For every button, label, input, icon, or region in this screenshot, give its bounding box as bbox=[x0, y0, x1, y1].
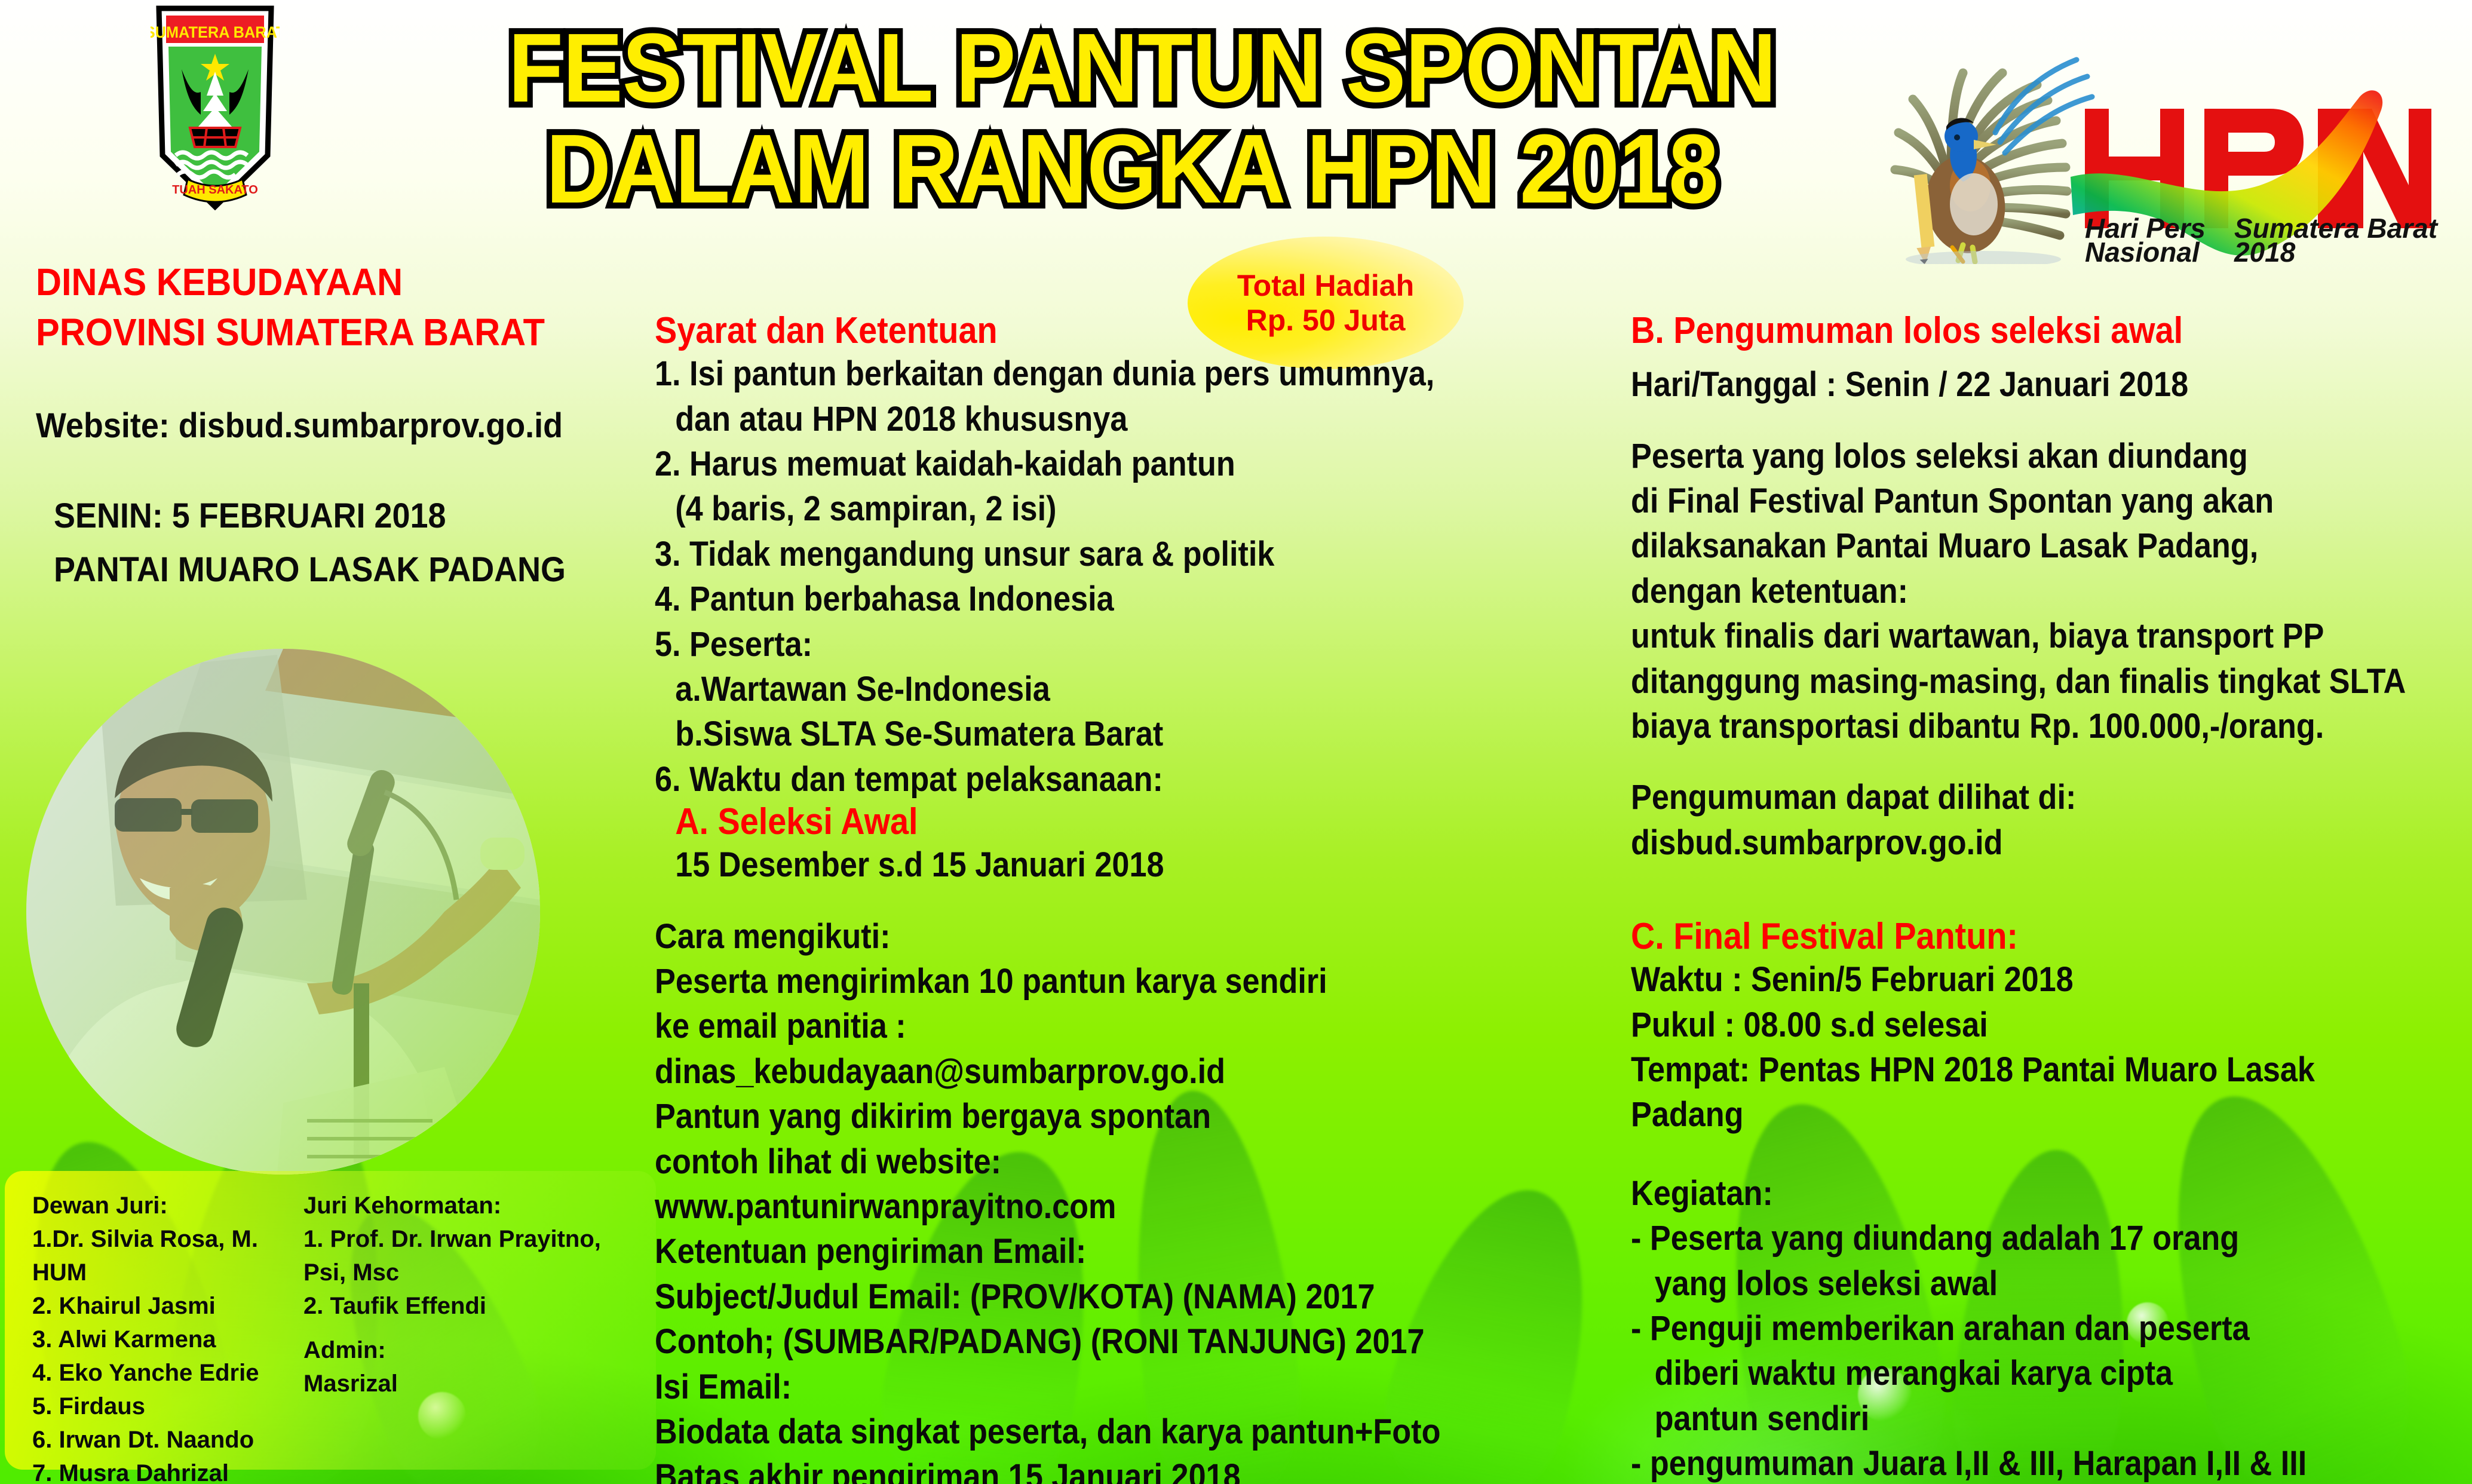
howto-line: Peserta mengirimkan 10 pantun karya send… bbox=[655, 959, 1493, 1004]
list-item: 3. Alwi Karmena bbox=[32, 1323, 319, 1356]
page-title: FESTIVAL PANTUN SPONTAN DALAM RANGKA HPN… bbox=[454, 18, 1810, 220]
announce-body-line: dengan ketentuan: bbox=[1631, 569, 2394, 614]
terms-item: 1. Isi pantun berkaitan dengan dunia per… bbox=[655, 351, 1493, 396]
admin-name: Masrizal bbox=[303, 1367, 398, 1400]
terms-item: 3. Tidak mengandung unsur sara & politik bbox=[655, 532, 1493, 577]
activity-heading: Kegiatan: bbox=[1631, 1171, 2394, 1216]
website-line[interactable]: Website: disbud.sumbarprov.go.id bbox=[36, 406, 569, 446]
final-tempat-line-2: Padang bbox=[1631, 1092, 2394, 1137]
final-heading: C. Final Festival Pantun: bbox=[1631, 916, 2394, 957]
svg-text:TUAH SAKATO: TUAH SAKATO bbox=[172, 183, 258, 197]
terms-heading: Syarat dan Ketentuan bbox=[655, 311, 1493, 351]
announce-body-line: dilaksanakan Pantai Muaro Lasak Padang, bbox=[1631, 523, 2394, 568]
activity-line: - pengumuman Juara I,II & III, Harapan I… bbox=[1631, 1441, 2394, 1484]
jury-honorary-column: Juri Kehormatan: 1. Prof. Dr. Irwan Pray… bbox=[303, 1189, 638, 1323]
howto-line: Pantun yang dikirim bergaya spontan bbox=[655, 1094, 1493, 1139]
admin-title: Admin: bbox=[303, 1333, 398, 1367]
list-item: 2. Taufik Effendi bbox=[303, 1289, 638, 1323]
terms-item: 5. Peserta: bbox=[655, 622, 1493, 667]
spacer bbox=[1631, 1137, 2472, 1171]
terms-column: Syarat dan Ketentuan 1. Isi pantun berka… bbox=[655, 311, 1587, 1484]
announce-where-label: Pengumuman dapat dilihat di: bbox=[1631, 775, 2394, 820]
howto-line: Batas akhir pengiriman 15 Januari 2018 bbox=[655, 1454, 1493, 1484]
howto-line: contoh lihat di website: bbox=[655, 1139, 1493, 1184]
activity-line: - Penguji memberikan arahan dan peserta bbox=[1631, 1306, 2394, 1351]
spacer bbox=[655, 888, 1587, 914]
activity-line: pantun sendiri bbox=[1631, 1396, 2394, 1441]
howto-line: Isi Email: bbox=[655, 1365, 1493, 1409]
list-item: 4. Eko Yanche Edrie bbox=[32, 1356, 319, 1390]
dept-line-2: PROVINSI SUMATERA BARAT bbox=[36, 307, 569, 357]
announcement-column: B. Pengumuman lolos seleksi awal Hari/Ta… bbox=[1631, 311, 2472, 1484]
list-item: 1.Dr. Silvia Rosa, M. HUM bbox=[32, 1222, 319, 1289]
title-line-1: FESTIVAL PANTUN SPONTAN bbox=[508, 18, 1756, 119]
announce-body-line: Peserta yang lolos seleksi akan diundang bbox=[1631, 434, 2394, 479]
section-a-heading: A. Seleksi Awal bbox=[655, 802, 1493, 842]
spacer bbox=[1631, 351, 2472, 362]
terms-item: 6. Waktu dan tempat pelaksanaan: bbox=[655, 757, 1493, 802]
announce-body-line: untuk finalis dari wartawan, biaya trans… bbox=[1631, 614, 2394, 658]
speaker-photo bbox=[26, 649, 540, 1175]
announce-where-url[interactable]: disbud.sumbarprov.go.id bbox=[1631, 820, 2394, 865]
event-place: PANTAI MUARO LASAK PADANG bbox=[54, 545, 571, 595]
howto-line: Subject/Judul Email: (PROV/KOTA) (NAMA) … bbox=[655, 1274, 1493, 1319]
sumatera-barat-crest-logo: SUMATERA BARAT TUAH SAKATO bbox=[151, 5, 280, 210]
announce-heading: B. Pengumuman lolos seleksi awal bbox=[1631, 311, 2394, 351]
final-waktu: Waktu : Senin/5 Februari 2018 bbox=[1631, 957, 2394, 1002]
prize-label: Total Hadiah bbox=[1237, 268, 1414, 303]
terms-item: b.Siswa SLTA Se-Sumatera Barat bbox=[655, 712, 1493, 756]
dept-line-1: DINAS KEBUDAYAAN bbox=[36, 257, 569, 307]
section-a-dates: 15 Desember s.d 15 Januari 2018 bbox=[655, 842, 1493, 887]
terms-item: 2. Harus memuat kaidah-kaidah pantun bbox=[655, 441, 1493, 486]
hpn-caption-line4: 2018 bbox=[2234, 237, 2296, 264]
howto-line: Ketentuan pengiriman Email: bbox=[655, 1229, 1493, 1274]
jury-council-title: Dewan Juri: bbox=[32, 1189, 319, 1222]
announce-date: Hari/Tanggal : Senin / 22 Januari 2018 bbox=[1631, 362, 2394, 407]
final-tempat-line-1: Tempat: Pentas HPN 2018 Pantai Muaro Las… bbox=[1631, 1047, 2394, 1092]
left-column: DINAS KEBUDAYAAN PROVINSI SUMATERA BARAT… bbox=[36, 257, 609, 595]
howto-line: Contoh; (SUMBAR/PADANG) (RONI TANJUNG) 2… bbox=[655, 1319, 1493, 1364]
activity-line: diberi waktu merangkai karya cipta bbox=[1631, 1351, 2394, 1396]
jury-panel: Dewan Juri: 1.Dr. Silvia Rosa, M. HUM 2.… bbox=[5, 1171, 656, 1470]
spacer bbox=[1631, 407, 2472, 434]
announce-body-line: biaya transportasi dibantu Rp. 100.000,-… bbox=[1631, 704, 2394, 749]
activity-line: - Peserta yang diundang adalah 17 orang bbox=[1631, 1216, 2394, 1261]
title-line-2: DALAM RANGKA HPN 2018 bbox=[508, 119, 1756, 220]
terms-item: 4. Pantun berbahasa Indonesia bbox=[655, 577, 1493, 621]
jury-honorary-title: Juri Kehormatan: bbox=[303, 1189, 638, 1222]
howto-heading: Cara mengikuti: bbox=[655, 914, 1493, 959]
jury-council-column: Dewan Juri: 1.Dr. Silvia Rosa, M. HUM 2.… bbox=[32, 1189, 319, 1484]
howto-line: Biodata data singkat peserta, dan karya … bbox=[655, 1409, 1493, 1454]
list-item: 6. Irwan Dt. Naando bbox=[32, 1423, 319, 1457]
terms-item: (4 baris, 2 sampiran, 2 isi) bbox=[655, 486, 1493, 531]
example-website-url[interactable]: www.pantunirwanprayitno.com bbox=[655, 1184, 1493, 1229]
panitia-email[interactable]: dinas_kebudayaan@sumbarprov.go.id bbox=[655, 1049, 1493, 1094]
hpn-caption-line2: Nasional bbox=[2085, 237, 2200, 264]
hpn-logo: Hari Pers Nasional Sumatera Barat 2018 bbox=[1846, 25, 2449, 264]
terms-item: dan atau HPN 2018 khususnya bbox=[655, 397, 1493, 441]
activity-line: yang lolos seleksi awal bbox=[1631, 1261, 2394, 1306]
poster-canvas: SUMATERA BARAT TUAH SAKATO FESTIVAL PANT… bbox=[0, 0, 2472, 1484]
event-day: SENIN: 5 FEBRUARI 2018 bbox=[54, 491, 571, 541]
final-pukul: Pukul : 08.00 s.d selesai bbox=[1631, 1002, 2394, 1047]
svg-text:SUMATERA BARAT: SUMATERA BARAT bbox=[151, 23, 280, 41]
list-item: 7. Musra Dahrizal bbox=[32, 1457, 319, 1484]
list-item: 1. Prof. Dr. Irwan Prayitno, Psi, Msc bbox=[303, 1222, 638, 1289]
announce-body-line: ditanggung masing-masing, dan finalis ti… bbox=[1631, 659, 2394, 704]
list-item: 5. Firdaus bbox=[32, 1390, 319, 1423]
admin-block: Admin: Masrizal bbox=[303, 1333, 398, 1400]
howto-line: ke email panitia : bbox=[655, 1004, 1493, 1048]
announce-body-line: di Final Festival Pantun Spontan yang ak… bbox=[1631, 479, 2394, 523]
terms-item: a.Wartawan Se-Indonesia bbox=[655, 667, 1493, 712]
spacer bbox=[1631, 865, 2472, 916]
list-item: 2. Khairul Jasmi bbox=[32, 1289, 319, 1323]
spacer bbox=[1631, 749, 2472, 775]
